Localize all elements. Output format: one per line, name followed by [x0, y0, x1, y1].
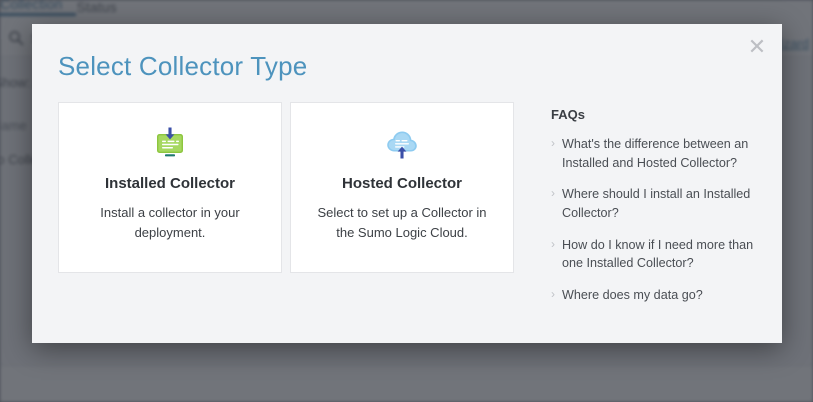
faq-item[interactable]: › Where should I install an Installed Co…: [551, 185, 766, 222]
faq-item[interactable]: › Where does my data go?: [551, 286, 766, 305]
faq-heading: FAQs: [551, 107, 766, 122]
card-title: Installed Collector: [105, 175, 235, 192]
faq-item[interactable]: › How do I know if I need more than one …: [551, 236, 766, 273]
cloud-upload-icon: [380, 122, 424, 166]
faq-item-label: What's the difference between an Install…: [562, 135, 766, 172]
chevron-right-icon: ›: [551, 135, 555, 151]
card-description: Install a collector in your deployment.: [80, 203, 260, 242]
dialog-body: Installed Collector Install a collector …: [32, 102, 782, 317]
faq-item-label: Where does my data go?: [562, 286, 703, 305]
faq-item-label: Where should I install an Installed Coll…: [562, 185, 766, 222]
close-icon[interactable]: ✕: [744, 34, 770, 60]
faq-panel: FAQs › What's the difference between an …: [551, 102, 766, 317]
chevron-right-icon: ›: [551, 286, 555, 302]
monitor-download-icon: [148, 122, 192, 166]
select-collector-type-dialog: ✕ Select Collector Type: [32, 24, 782, 343]
card-title: Hosted Collector: [342, 175, 462, 192]
card-hosted-collector[interactable]: Hosted Collector Select to set up a Coll…: [290, 102, 514, 273]
chevron-right-icon: ›: [551, 236, 555, 252]
faq-item[interactable]: › What's the difference between an Insta…: [551, 135, 766, 172]
faq-item-label: How do I know if I need more than one In…: [562, 236, 766, 273]
chevron-right-icon: ›: [551, 185, 555, 201]
screen: Collection Status Search Show: All Name …: [0, 0, 813, 402]
card-description: Select to set up a Collector in the Sumo…: [312, 203, 492, 242]
collector-type-cards: Installed Collector Install a collector …: [32, 102, 514, 317]
card-installed-collector[interactable]: Installed Collector Install a collector …: [58, 102, 282, 273]
dialog-title: Select Collector Type: [58, 51, 307, 82]
